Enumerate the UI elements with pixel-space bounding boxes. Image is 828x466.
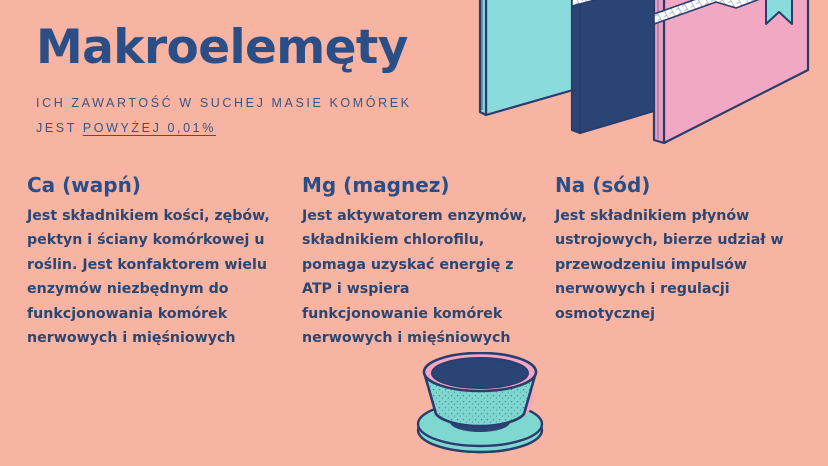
books-svg — [468, 0, 828, 152]
saucer — [418, 408, 542, 452]
column-body-mg: Jest aktywatorem enzymów, składnikiem ch… — [302, 204, 537, 351]
book-pink — [654, 0, 808, 143]
cup-handle — [502, 380, 528, 415]
title-block: Makroelemęty ICH ZAWARTOŚĆ W SUCHEJ MASI… — [36, 24, 506, 141]
column-body-na: Jest składnikiem płynów ustrojowych, bie… — [555, 204, 805, 326]
slide-canvas: Makroelemęty ICH ZAWARTOŚĆ W SUCHEJ MASI… — [0, 0, 828, 466]
column-heading-mg: Mg (magnez) — [302, 174, 537, 196]
three-books-illustration — [468, 0, 828, 152]
page-title: Makroelemęty — [36, 24, 506, 71]
bookmark-ribbon-icon — [766, 0, 792, 24]
book-navy — [572, 0, 664, 133]
subtitle-line-2-prefix: JEST — [36, 121, 83, 135]
coffee-cup-illustration — [408, 352, 558, 466]
cup-rim — [424, 353, 536, 391]
subtitle-line-1: ICH ZAWARTOŚĆ W SUCHEJ MASIE KOMÓREK — [36, 96, 412, 110]
cup-liquid — [432, 358, 528, 388]
column-body-ca: Jest składnikiem kości, zębów, pektyn i … — [27, 204, 272, 351]
subtitle: ICH ZAWARTOŚĆ W SUCHEJ MASIE KOMÓREK JES… — [36, 91, 476, 141]
cup-svg — [408, 352, 558, 466]
cup-body — [424, 372, 536, 426]
column-na: Na (sód) Jest składnikiem płynów ustrojo… — [555, 174, 805, 326]
subtitle-emphasis: POWYŻEJ 0,01% — [83, 121, 216, 135]
column-mg: Mg (magnez) Jest aktywatorem enzymów, sk… — [302, 174, 537, 351]
saucer-well — [450, 412, 510, 432]
column-ca: Ca (wapń) Jest składnikiem kości, zębów,… — [27, 174, 272, 351]
column-heading-na: Na (sód) — [555, 174, 805, 196]
column-heading-ca: Ca (wapń) — [27, 174, 272, 196]
saucer-rim — [418, 402, 542, 446]
